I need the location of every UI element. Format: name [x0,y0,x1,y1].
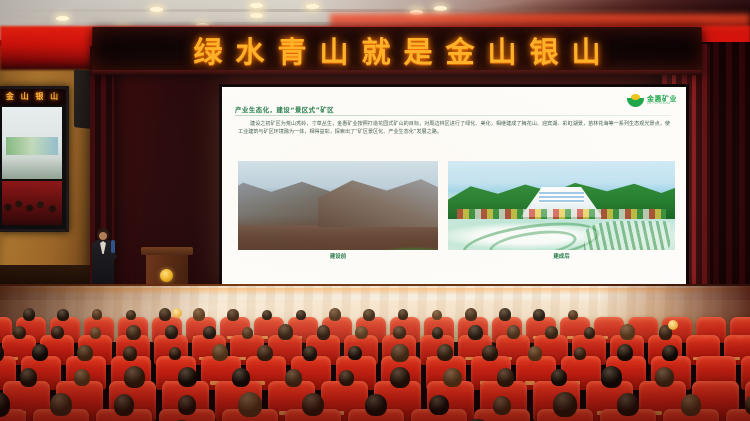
audience-member-head [74,369,90,386]
audience-member-head [57,309,68,321]
podium-top [141,247,193,255]
audience-member-head [390,367,410,388]
audience-member-head [123,346,137,361]
audience-member-head [302,393,325,417]
audience-member-head [574,347,587,361]
audience-member-head [90,327,101,339]
audience-member-head [238,392,262,417]
audience-member-head [662,345,678,361]
audience-member-head [317,325,331,340]
audience-member-head [617,393,639,416]
audience-member-head [77,345,92,361]
audience-member-head [114,394,134,415]
side-wall-monitor: 金 山 银 山 [0,86,69,232]
photo-caption-after: 建成后 [448,252,675,260]
audience-member-head [212,344,229,361]
photo-green-park [448,161,675,261]
slide-title: 产业生态化，建设“景区式”矿区 [235,104,334,114]
audience-member-head [393,326,405,339]
audience-member-head [545,326,558,339]
audience-member-head [51,326,63,339]
audience-member-head [329,308,341,321]
audience-member-head [126,325,140,340]
audience-member-head [32,344,48,361]
audience-member-head [568,310,578,321]
led-banner: 绿水青山就是金山银山 [92,27,703,73]
photo-caption-before: 建设前 [238,252,438,260]
conference-hall-scene: 金 山 银 山 绿水青山就是金山银山 金惠矿业 JIN HUI MINING 产… [0,0,750,421]
audience-member-head [429,395,449,416]
audience-member-head [20,368,37,386]
audience-member-head [203,326,216,339]
audience-member-head [178,395,197,415]
audience-member-head [339,370,354,386]
photo-barren-mountains [238,161,438,261]
audience-member-head [285,369,302,387]
audience-member-head [391,344,408,362]
audience-member-head [432,327,443,339]
audience-member-head [23,308,35,321]
slide-body-text: 建设之初矿区为荒山秃岭，寸草丛生，金惠矿业按照打造花园式矿山的目标，对周边林区进… [238,120,670,136]
sunrise-bowl-icon [627,94,644,107]
audience-member-head [465,308,478,321]
audience-member-head [617,344,634,361]
audience-member-head [443,368,462,388]
audience-member-head [482,345,497,361]
microphone-icon [111,240,115,253]
audience-member-head [193,308,205,320]
audience-member-head [551,369,567,386]
audience-member-head [355,326,368,340]
audience-member-head [13,326,26,340]
audience-member-head [227,309,238,321]
led-banner-frame [92,70,702,75]
audience-member-head [493,396,511,415]
led-banner-text: 绿水青山就是金山银山 [180,29,614,71]
projection-screen: 金惠矿业 JIN HUI MINING 产业生态化，建设“景区式”矿区 建设之初… [219,84,689,290]
audience-member-head [303,346,318,361]
audience-member-head [437,344,453,361]
slide-title-divider [235,115,671,116]
audience-member-head [296,310,305,320]
audience-member-head [497,368,514,386]
slide-photo-after: 建成后 [448,161,675,261]
audience-member-head [620,324,635,340]
audience-member-head [50,393,72,416]
company-logo: 金惠矿业 JIN HUI MINING [627,94,677,107]
side-monitor-slide-image [2,107,62,179]
audience-member-head [159,308,172,321]
audience-member-head [232,368,250,387]
audience-member-head [655,367,674,387]
audience-seating [0,300,750,421]
audience-member-head [553,392,576,416]
audience-member-head [601,366,622,388]
audience-member-head [528,346,542,361]
audience-member-head [432,310,442,320]
audience-member-head [363,309,374,321]
side-monitor-banner-text: 金 山 银 山 [0,89,66,105]
podium-emblem-icon [160,269,173,282]
audience-member-head [262,310,272,321]
audience-member-head [365,394,386,416]
audience-member-head [242,327,254,339]
audience-member-head [348,346,361,360]
decorative-flower [668,320,678,330]
audience-member-head [126,310,136,320]
audience-member-head [584,327,596,339]
logo-name-en: JIN HUI MINING [647,103,677,106]
slide-photo-before: 建设前 [238,161,438,261]
audience-member-head [533,309,544,321]
audience-member-head [165,325,179,339]
audience-member-head [178,367,197,387]
audience-member-head [507,325,521,339]
audience-member-head [124,366,145,388]
decorative-flower [172,308,182,318]
audience-member-head [499,308,511,320]
audience-member-head [257,345,273,361]
audience-member-head [468,325,482,340]
wall-loudspeaker [74,69,91,129]
speaker-face [99,232,107,240]
audience-member-head [681,394,701,415]
audience-member-head [169,347,182,361]
side-monitor-audience-image [2,181,62,225]
audience-member-head [278,324,293,340]
presentation-slide: 金惠矿业 JIN HUI MINING 产业生态化，建设“景区式”矿区 建设之初… [222,87,686,287]
